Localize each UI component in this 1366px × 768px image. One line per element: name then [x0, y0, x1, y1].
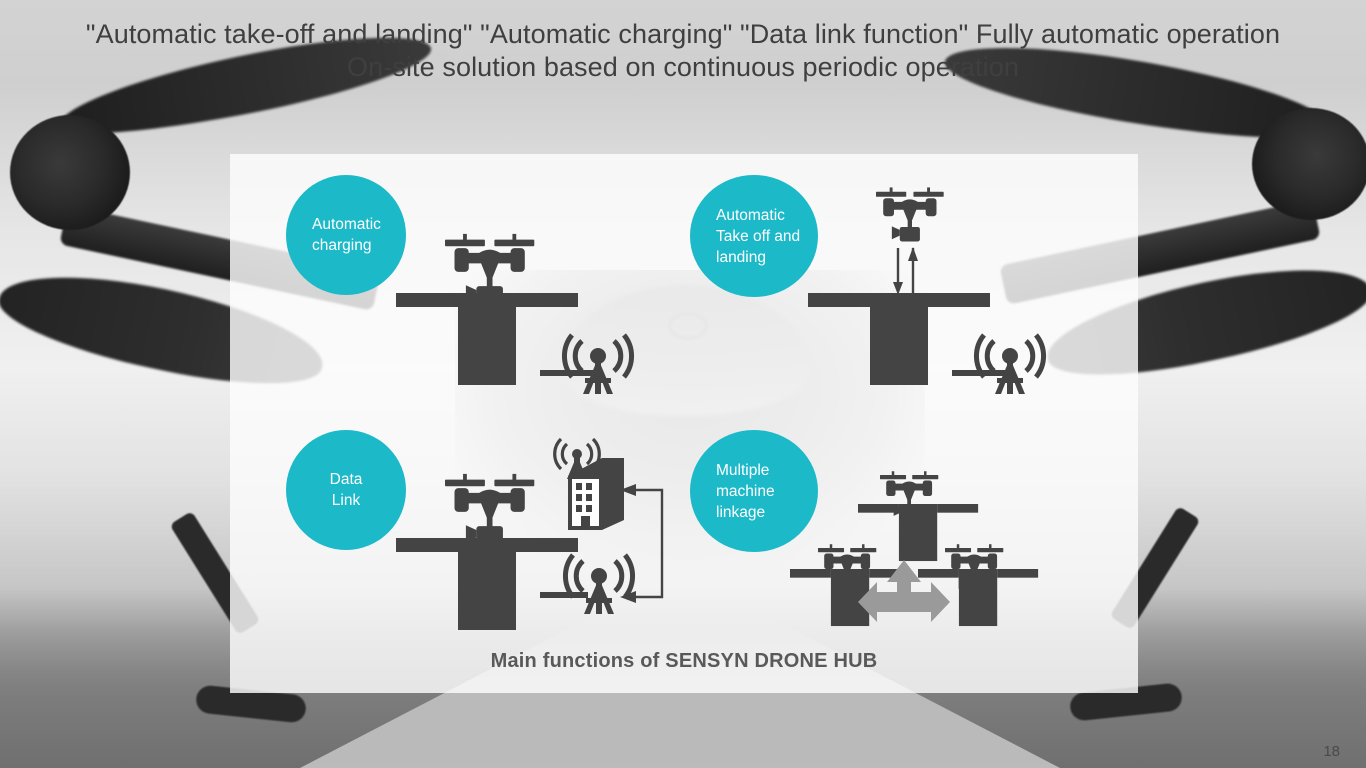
circle-label-data-link: Data Link	[286, 469, 406, 511]
label-circle-automatic-takeoff-landing[interactable]: Automatic Take off and landing	[690, 175, 818, 297]
motor-right	[1252, 108, 1366, 220]
circle-label-automatic-takeoff-landing: Automatic Take off and landing	[690, 205, 818, 268]
circle-label-line-1: Multiple	[716, 460, 818, 481]
panel-caption: Main functions of SENSYN DRONE HUB	[230, 650, 1138, 673]
title-line-2: On-site solution based on continuous per…	[0, 51, 1366, 84]
circle-label-line-1: Automatic	[312, 214, 406, 235]
slide-title: "Automatic take-off and landing" "Automa…	[0, 18, 1366, 84]
page-number: 18	[1323, 743, 1340, 760]
circle-label-multiple-machine-linkage: Multiple machine linkage	[690, 460, 818, 523]
label-circle-data-link[interactable]: Data Link	[286, 430, 406, 550]
circle-label-line-2: machine	[716, 481, 818, 502]
circle-label-line-1: Automatic	[716, 205, 818, 226]
circle-label-line-1: Data	[286, 469, 406, 490]
circle-label-automatic-charging: Automatic charging	[286, 214, 406, 256]
circle-label-line-3: linkage	[716, 502, 818, 523]
slide: "Automatic take-off and landing" "Automa…	[0, 0, 1366, 768]
circle-label-line-3: landing	[716, 247, 818, 268]
circle-label-line-2: charging	[312, 235, 406, 256]
circle-label-line-2: Link	[286, 490, 406, 511]
label-circle-multiple-machine-linkage[interactable]: Multiple machine linkage	[690, 430, 818, 552]
circle-label-line-2: Take off and	[716, 226, 818, 247]
title-line-1: "Automatic take-off and landing" "Automa…	[0, 18, 1366, 51]
label-circle-automatic-charging[interactable]: Automatic charging	[286, 175, 406, 295]
motor-left	[10, 115, 130, 230]
